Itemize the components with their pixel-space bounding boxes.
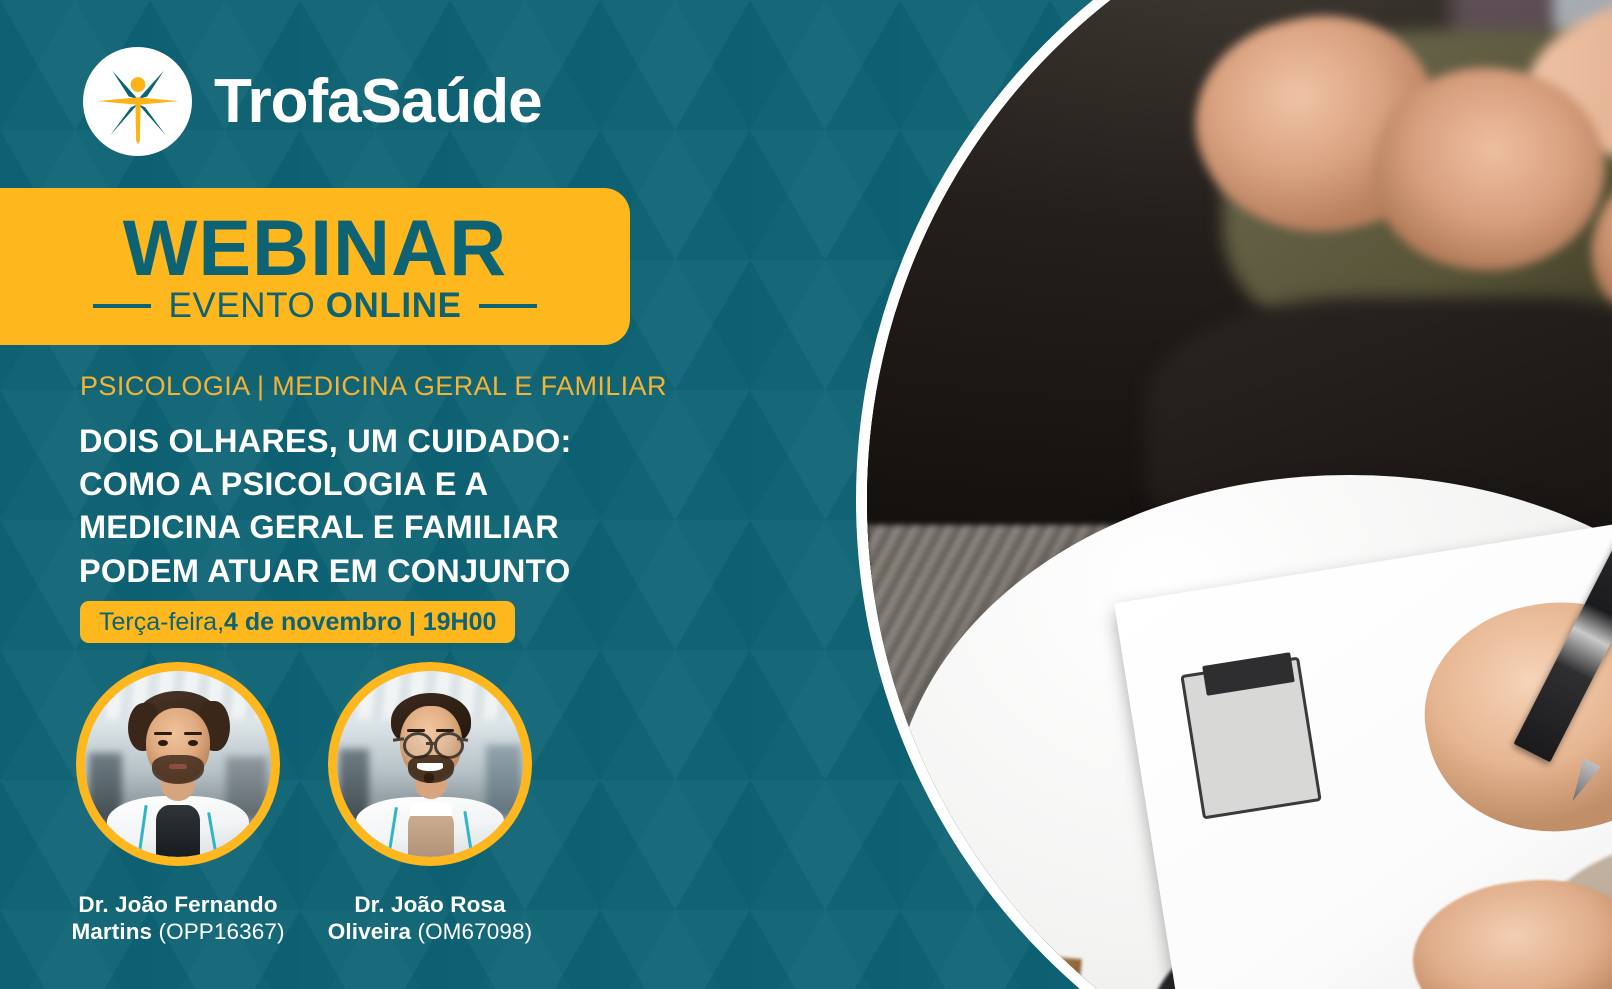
webinar-title: WEBINAR xyxy=(123,210,507,286)
subtitle-bold: ONLINE xyxy=(326,286,462,325)
webinar-subtitle-row: EVENTO ONLINE xyxy=(93,288,536,323)
speaker-name-line-1: Dr. João Fernando xyxy=(78,892,277,917)
speaker-name: Dr. João Rosa Oliveira (OM67098) xyxy=(328,891,532,945)
weekday-label: Terça-feira, xyxy=(99,610,224,635)
rule-left xyxy=(93,304,151,308)
avatar xyxy=(76,662,280,866)
hero-photo xyxy=(856,0,1612,989)
brand-name: TrofaSaúde xyxy=(214,71,542,133)
event-title-line-4: PODEM ATUAR EM CONJUNTO xyxy=(79,550,779,593)
event-title-line-2: COMO A PSICOLOGIA E A xyxy=(79,463,779,506)
trofasaude-starburst-figure-icon xyxy=(83,47,192,156)
speaker-registration: (OM67098) xyxy=(411,919,532,944)
brand-logo: TrofaSaúde xyxy=(83,47,542,156)
speaker-name: Dr. João Fernando Martins (OPP16367) xyxy=(71,891,284,945)
event-title: DOIS OLHARES, UM CUIDADO: COMO A PSICOLO… xyxy=(79,420,779,593)
speaker-card-2: Dr. João Rosa Oliveira (OM67098) xyxy=(326,662,534,945)
speaker-name-line-1: Dr. João Rosa xyxy=(354,892,505,917)
speaker-card-1: Dr. João Fernando Martins (OPP16367) xyxy=(74,662,282,945)
event-title-line-3: MEDICINA GERAL E FAMILIAR xyxy=(79,506,779,549)
speaker-name-line-2: Oliveira xyxy=(328,919,411,944)
doctor-curly-hair-lab-coat-photo xyxy=(85,671,271,857)
speakers-row: Dr. João Fernando Martins (OPP16367) xyxy=(74,662,534,945)
webinar-poster: TrofaSaúde WEBINAR EVENTO ONLINE PSICOLO… xyxy=(0,0,1612,989)
date-time-badge: Terça-feira, 4 de novembro | 19H00 xyxy=(80,601,515,643)
date-time-label: 4 de novembro | 19H00 xyxy=(224,610,496,635)
avatar xyxy=(328,662,532,866)
speaker-registration: (OPP16367) xyxy=(152,919,284,944)
speaker-name-line-2: Martins xyxy=(71,919,152,944)
webinar-subtitle: EVENTO ONLINE xyxy=(168,288,461,323)
webinar-banner: WEBINAR EVENTO ONLINE xyxy=(0,188,630,345)
specialties-line: PSICOLOGIA | MEDICINA GERAL E FAMILIAR xyxy=(80,371,667,402)
rule-right xyxy=(479,304,537,308)
doctor-glasses-beard-lab-coat-photo xyxy=(337,671,523,857)
event-title-line-1: DOIS OLHARES, UM CUIDADO: xyxy=(79,420,779,463)
subtitle-light: EVENTO xyxy=(168,286,325,325)
